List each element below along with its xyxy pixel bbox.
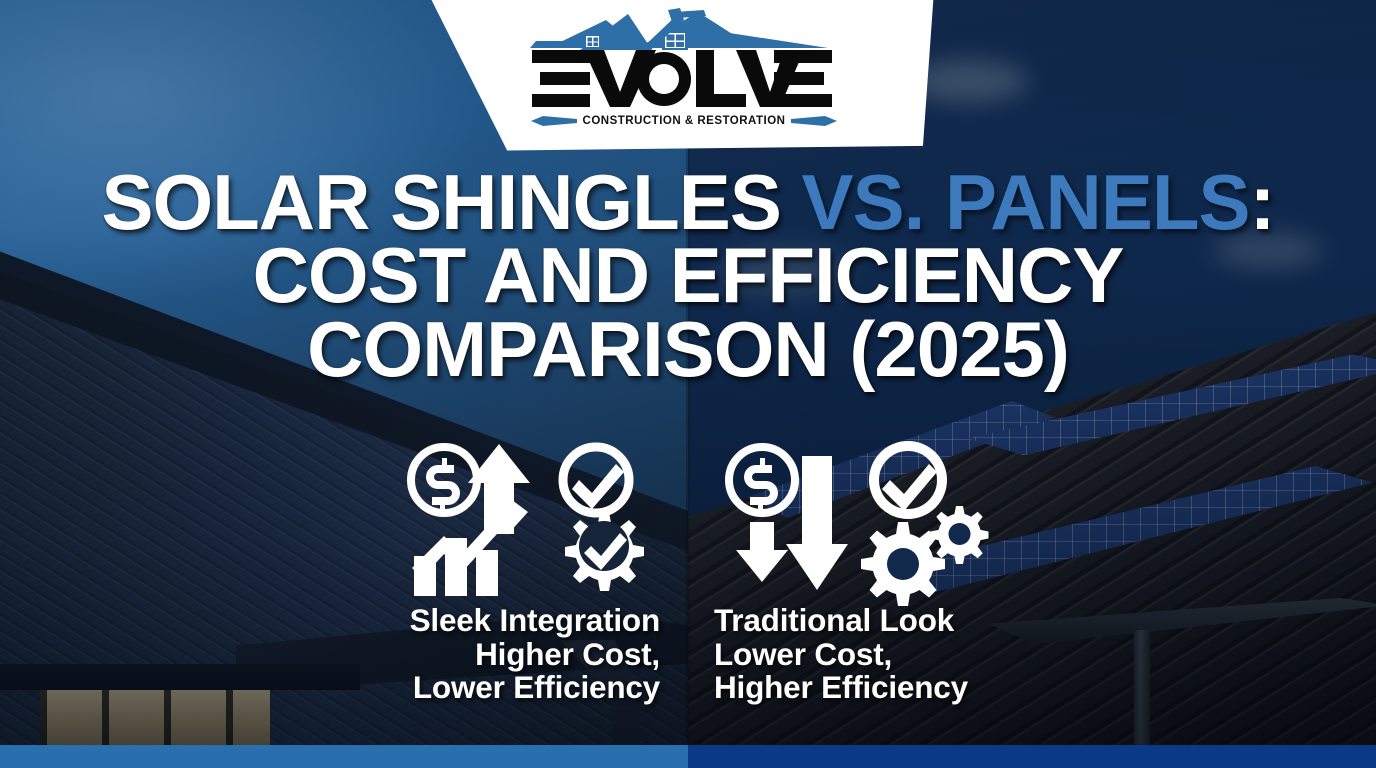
title-line-3: COMPARISON (2025) bbox=[0, 313, 1376, 386]
left-caption-line-2: Higher Cost, bbox=[330, 638, 660, 672]
check-gear-group-icon bbox=[548, 438, 652, 598]
dollar-circle-down-icon bbox=[729, 447, 795, 582]
right-caption-line-2: Lower Cost, bbox=[714, 638, 1054, 672]
logo-tagline-row: CONSTRUCTION & RESTORATION bbox=[524, 112, 844, 130]
evolve-wordmark bbox=[532, 48, 832, 110]
right-caption-line-3: Higher Efficiency bbox=[714, 671, 1054, 705]
right-caption-line-1: Traditional Look bbox=[714, 604, 1054, 638]
gear-large-icon bbox=[861, 522, 945, 606]
right-caption: Traditional Look Lower Cost, Higher Effi… bbox=[714, 604, 1054, 705]
page-title: SOLAR SHINGLES VS. PANELS: COST AND EFFI… bbox=[0, 166, 1376, 386]
gear-check-icon bbox=[565, 512, 644, 591]
comparison-left: Sleek Integration Higher Cost, Lower Eff… bbox=[330, 438, 660, 705]
title-line-2: COST AND EFFICIENCY bbox=[0, 239, 1376, 312]
gear-small-icon bbox=[931, 506, 989, 564]
bar-chart-growth-icon bbox=[404, 438, 534, 598]
left-arrow-icon bbox=[531, 116, 577, 126]
footer-bar-right bbox=[688, 745, 1376, 768]
left-caption-line-3: Lower Efficiency bbox=[330, 671, 660, 705]
comparison-right: Traditional Look Lower Cost, Higher Effi… bbox=[714, 438, 1054, 705]
check-circle-icon bbox=[874, 446, 942, 514]
poster-canvas: CONSTRUCTION & RESTORATION SOLAR SHINGLE… bbox=[0, 0, 1376, 768]
title-line-1: SOLAR SHINGLES VS. PANELS: bbox=[0, 166, 1376, 239]
logo-tagline: CONSTRUCTION & RESTORATION bbox=[583, 115, 786, 127]
check-gears-group-icon bbox=[858, 438, 986, 598]
dollar-circle-icon bbox=[411, 447, 477, 513]
left-icon-group bbox=[330, 438, 660, 598]
title-line-1-colon: : bbox=[1250, 158, 1275, 246]
footer-bar-left bbox=[0, 745, 688, 768]
left-caption-line-1: Sleek Integration bbox=[330, 604, 660, 638]
right-icon-group bbox=[714, 438, 1054, 598]
dollar-down-arrow-icon bbox=[724, 438, 844, 598]
check-circle-icon bbox=[563, 447, 629, 513]
right-arrow-icon bbox=[791, 116, 837, 126]
logo-banner: CONSTRUCTION & RESTORATION bbox=[420, 0, 945, 152]
left-caption: Sleek Integration Higher Cost, Lower Eff… bbox=[330, 604, 660, 705]
